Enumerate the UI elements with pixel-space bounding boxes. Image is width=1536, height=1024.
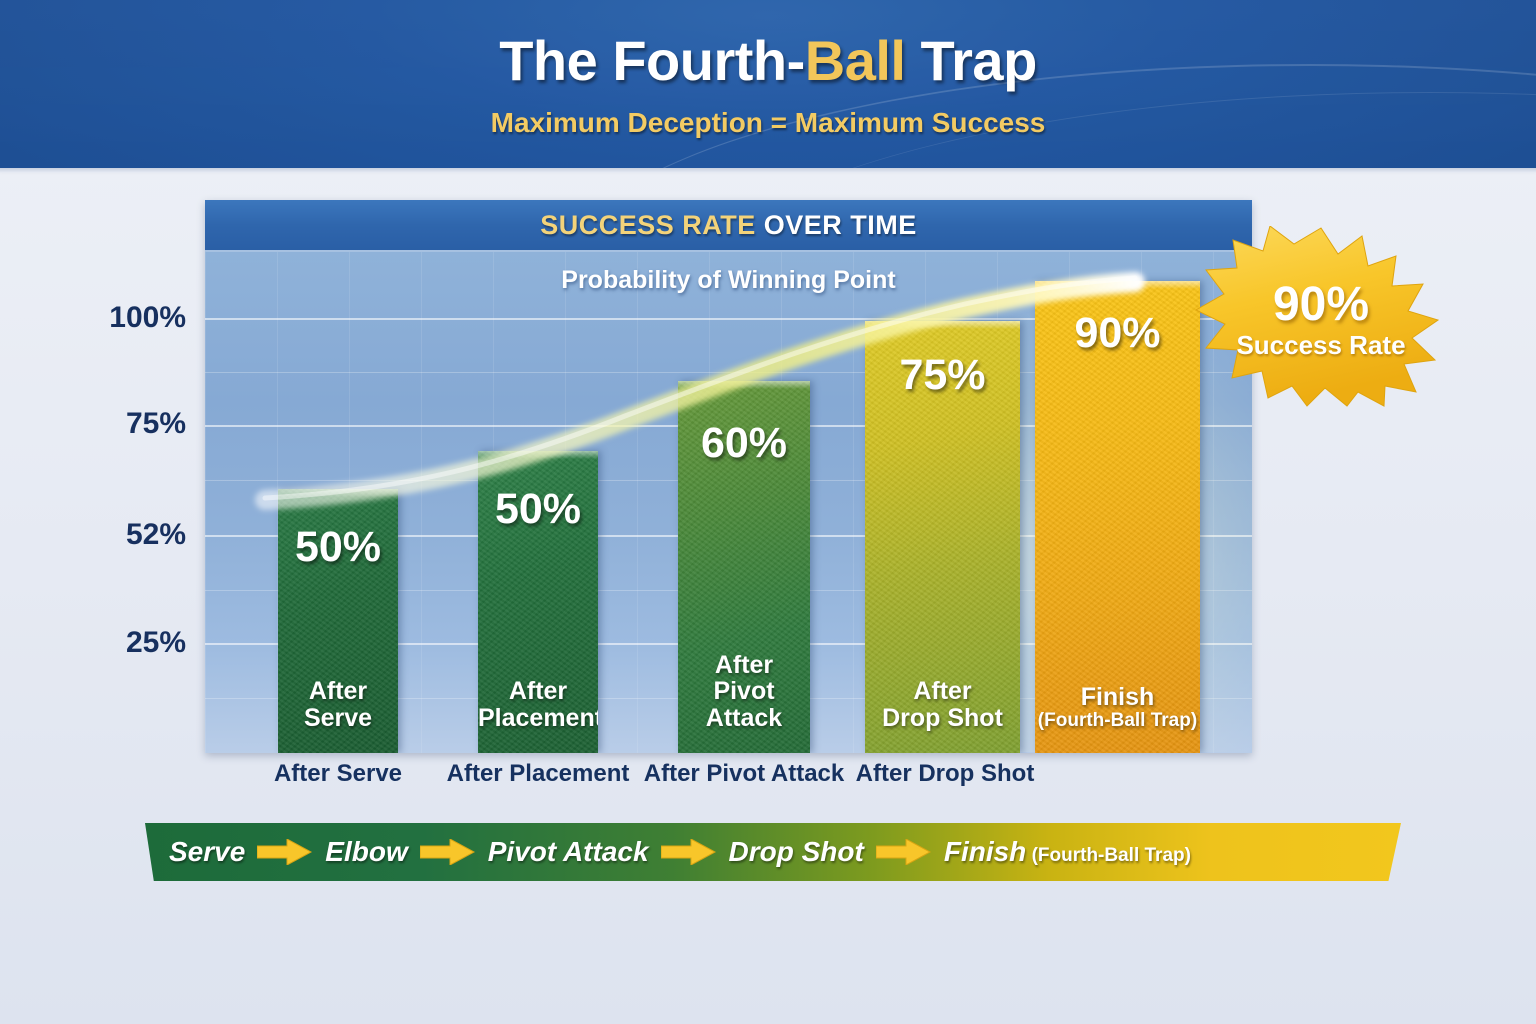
page-title-part1: The Fourth- xyxy=(499,29,805,92)
x-tick-after-placement: After Placement xyxy=(423,760,653,788)
bar-after-placement[interactable]: 50% After Placement xyxy=(478,451,598,753)
bar-category-label: After Placement xyxy=(478,678,598,731)
bar-cat-line1: Finish xyxy=(1081,683,1155,711)
flow-step-label: Serve xyxy=(169,836,245,867)
flow-step-elbow[interactable]: Elbow xyxy=(325,836,407,868)
bar-category-label: Finish (Fourth-Ball Trap) xyxy=(1035,684,1200,731)
flow-step-finish[interactable]: Finish (Fourth-Ball Trap) xyxy=(944,836,1191,868)
bar-cat-line1: After xyxy=(715,651,773,679)
y-tick-2: 52% xyxy=(76,518,186,552)
bar-after-drop-shot[interactable]: 75% After Drop Shot xyxy=(865,321,1020,753)
bar-category-label: After Serve xyxy=(278,678,398,731)
bar-value-label: 50% xyxy=(478,485,598,534)
success-rate-badge: 90% Success Rate xyxy=(1192,226,1450,408)
page-title-part2: Trap xyxy=(905,29,1036,92)
flow-step-label: Pivot Attack xyxy=(488,836,649,867)
page-header: The Fourth-Ball Trap Maximum Deception =… xyxy=(0,0,1536,168)
arrow-right-icon xyxy=(257,839,313,865)
page-subtitle: Maximum Deception = Maximum Success xyxy=(0,107,1536,139)
flow-step-drop-shot[interactable]: Drop Shot xyxy=(729,836,864,868)
bar-value-label: 90% xyxy=(1035,309,1200,358)
bar-after-serve[interactable]: 50% After Serve xyxy=(278,489,398,753)
badge-value: 90% xyxy=(1273,281,1369,328)
flow-step-label: Drop Shot xyxy=(729,836,864,867)
page-title-accent: Ball xyxy=(805,29,906,92)
bar-after-pivot-attack[interactable]: 60% After Pivot Attack xyxy=(678,381,810,753)
bar-cat-line1: After xyxy=(309,677,367,705)
bar-top-cap xyxy=(678,381,810,389)
bar-cat-line2: Placement xyxy=(478,704,598,732)
arrow-right-icon xyxy=(420,839,476,865)
chart-title-rest: OVER TIME xyxy=(756,210,917,240)
bar-cat-line2: (Fourth-Ball Trap) xyxy=(1035,711,1200,731)
x-tick-after-drop-shot: After Drop Shot xyxy=(830,760,1060,788)
flow-step-serve[interactable]: Serve xyxy=(169,836,245,868)
header-divider xyxy=(0,168,1536,173)
arrow-right-icon xyxy=(661,839,717,865)
y-axis-labels: 100% 75% 52% 25% xyxy=(90,200,200,753)
bar-cat-line1: After xyxy=(913,677,971,705)
bar-top-cap xyxy=(278,489,398,497)
arrow-right-icon xyxy=(876,839,932,865)
chart-panel: SUCCESS RATE OVER TIME Probability of Wi… xyxy=(205,200,1252,753)
chart-title-highlight: SUCCESS RATE xyxy=(540,210,756,240)
bar-cat-line1: After xyxy=(509,677,567,705)
plot-area: Probability of Winning Point 50% After S… xyxy=(205,252,1252,753)
bar-value-label: 60% xyxy=(678,419,810,468)
x-axis-labels: After Serve After Placement After Pivot … xyxy=(205,760,1252,806)
badge-text: 90% Success Rate xyxy=(1192,226,1450,408)
bar-category-label: After Drop Shot xyxy=(865,678,1020,731)
flow-step-label: Elbow xyxy=(325,836,407,867)
flow-step-pivot-attack[interactable]: Pivot Attack xyxy=(488,836,649,868)
bar-cat-line2: Serve xyxy=(304,704,372,732)
bar-top-cap xyxy=(865,321,1020,329)
x-tick-after-serve: After Serve xyxy=(223,760,453,788)
bar-finish-fourth-ball-trap[interactable]: 90% Finish (Fourth-Ball Trap) xyxy=(1035,281,1200,753)
page-title: The Fourth-Ball Trap xyxy=(0,28,1536,93)
bar-value-label: 75% xyxy=(865,351,1020,400)
x-tick-after-pivot-attack: After Pivot Attack xyxy=(629,760,859,788)
flow-step-note: (Fourth-Ball Trap) xyxy=(1026,845,1191,866)
y-tick-3: 25% xyxy=(76,626,186,660)
bar-category-label: After Pivot Attack xyxy=(678,652,810,732)
bar-cat-line2: Drop Shot xyxy=(882,704,1003,732)
bar-top-cap xyxy=(478,451,598,459)
flow-step-label: Finish xyxy=(944,836,1026,867)
bar-cat-line2: Pivot Attack xyxy=(706,677,782,732)
y-tick-1: 75% xyxy=(76,407,186,441)
chart-panel-header: SUCCESS RATE OVER TIME xyxy=(205,200,1252,252)
sequence-flow-banner: Serve Elbow Pivot Attack Drop Shot Finis… xyxy=(145,823,1401,881)
bar-series: 50% After Serve 50% After Placement 60% xyxy=(205,252,1252,753)
bar-value-label: 50% xyxy=(278,523,398,572)
badge-label: Success Rate xyxy=(1236,330,1405,361)
bar-top-cap xyxy=(1035,281,1200,289)
y-tick-0: 100% xyxy=(76,301,186,335)
chart-title: SUCCESS RATE OVER TIME xyxy=(540,210,917,241)
